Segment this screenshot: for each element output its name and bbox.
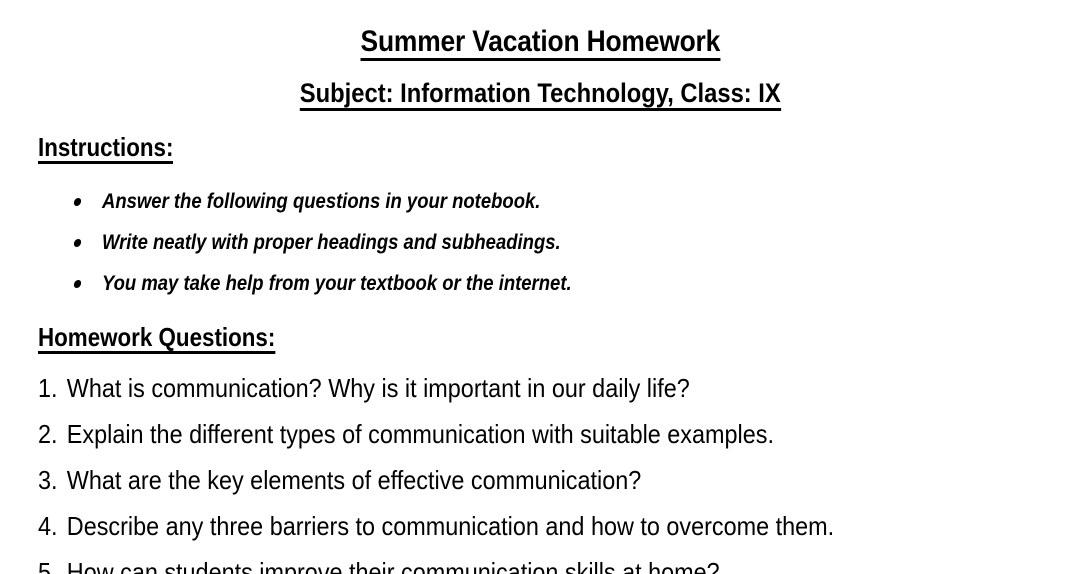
- homework-questions-heading-text: Homework Questions:: [38, 324, 275, 354]
- page-title: Summer Vacation Homework: [0, 0, 1080, 61]
- question-number: 4.: [38, 512, 67, 541]
- list-item: 5. How can students improve their commun…: [0, 550, 1080, 574]
- list-item-label: You may take help from your textbook or …: [102, 272, 572, 295]
- question-number: 5.: [38, 558, 67, 574]
- bullet-dot-icon: [73, 280, 82, 288]
- document-page: Summer Vacation Homework Subject: Inform…: [0, 0, 1080, 574]
- list-item: You may take help from your textbook or …: [0, 263, 1080, 304]
- question-line: 2. Explain the different types of commun…: [38, 420, 774, 449]
- question-text: Describe any three barriers to communica…: [67, 511, 834, 541]
- list-item: 4. Describe any three barriers to commun…: [0, 504, 1080, 550]
- list-item-label: Answer the following questions in your n…: [102, 190, 540, 213]
- question-number: 2.: [38, 420, 67, 449]
- instructions-heading: Instructions:: [0, 111, 1080, 164]
- list-item: 2. Explain the different types of commun…: [0, 412, 1080, 458]
- page-title-text: Summer Vacation Homework: [360, 27, 720, 61]
- homework-questions-heading: Homework Questions:: [0, 304, 1080, 354]
- bullet-dot-icon: [73, 198, 82, 206]
- question-line: 5. How can students improve their commun…: [38, 558, 720, 574]
- list-item-label: Write neatly with proper headings and su…: [102, 231, 561, 254]
- question-text: How can students improve their communica…: [67, 557, 720, 574]
- list-item: Answer the following questions in your n…: [0, 181, 1080, 222]
- instructions-heading-text: Instructions:: [38, 134, 173, 164]
- page-subtitle-text: Subject: Information Technology, Class: …: [300, 80, 781, 111]
- list-item: Write neatly with proper headings and su…: [0, 222, 1080, 263]
- document-header: Summer Vacation Homework Subject: Inform…: [0, 0, 1080, 111]
- question-text: Explain the different types of communica…: [67, 419, 774, 449]
- bullet-dot-icon: [73, 239, 82, 247]
- question-line: 1. What is communication? Why is it impo…: [38, 374, 690, 403]
- page-subtitle: Subject: Information Technology, Class: …: [0, 61, 1080, 111]
- list-item: 1. What is communication? Why is it impo…: [0, 366, 1080, 412]
- homework-questions-list: 1. What is communication? Why is it impo…: [0, 354, 1080, 574]
- question-line: 3. What are the key elements of effectiv…: [38, 466, 641, 495]
- list-item: 3. What are the key elements of effectiv…: [0, 458, 1080, 504]
- question-text: What are the key elements of effective c…: [67, 465, 641, 495]
- question-line: 4. Describe any three barriers to commun…: [38, 512, 834, 541]
- question-number: 1.: [38, 374, 67, 403]
- question-text: What is communication? Why is it importa…: [67, 373, 690, 403]
- question-number: 3.: [38, 466, 67, 495]
- instructions-list: Answer the following questions in your n…: [0, 164, 1080, 304]
